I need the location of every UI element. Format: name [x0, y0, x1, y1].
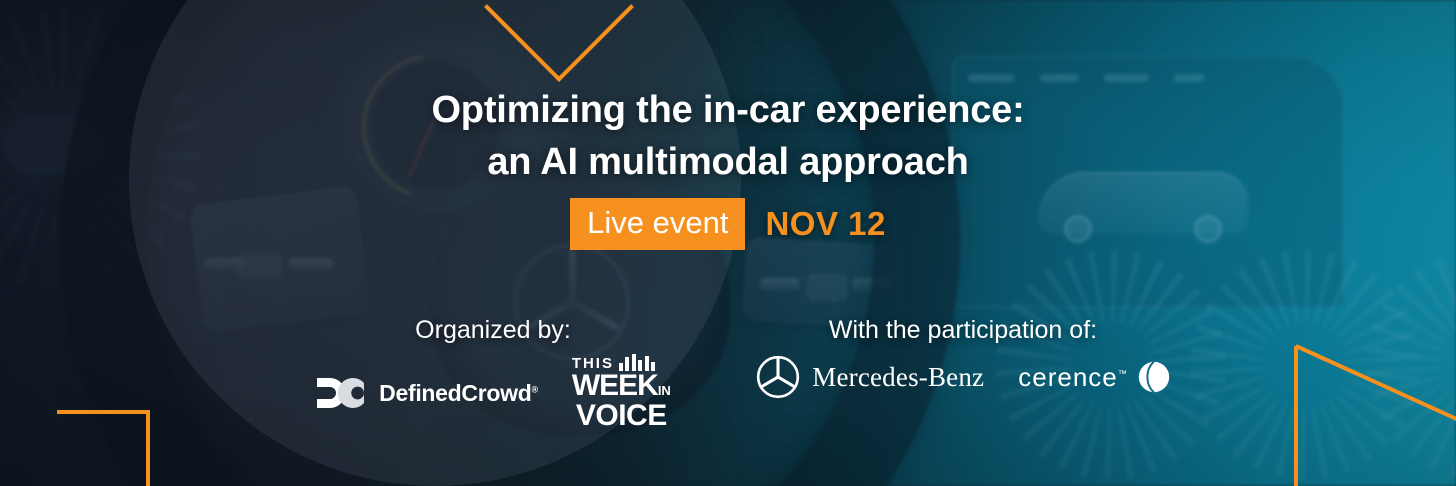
twiv-week-text: WEEK [572, 371, 658, 401]
participant-logos: Mercedes-Benz cerence™ [756, 355, 1170, 399]
organizer-logos: DefinedCrowd® THIS [315, 355, 671, 431]
definedcrowd-logo: DefinedCrowd® [315, 373, 538, 413]
definedcrowd-monogram-icon [315, 373, 367, 413]
definedcrowd-wordmark: DefinedCrowd® [379, 380, 538, 407]
organized-by-label: Organized by: [415, 315, 571, 345]
mercedes-benz-wordmark: Mercedes-Benz [812, 362, 984, 393]
twiv-voice-text: VOICE [576, 399, 667, 432]
cerence-logo: cerence™ [1018, 361, 1170, 393]
title-line-1: Optimizing the in-car experience: [431, 89, 1024, 131]
banner-content: Optimizing the in-car experience: an AI … [0, 0, 1456, 486]
twiv-in-text: IN [658, 384, 671, 397]
event-banner: Optimizing the in-car experience: an AI … [0, 0, 1456, 486]
status-badge: Live event [570, 198, 745, 250]
organized-by-column: Organized by: DefinedCrowd® THIS [258, 315, 728, 431]
page-title: Optimizing the in-car experience: an AI … [0, 84, 1456, 188]
participation-column: With the participation of: Mercedes-Benz [728, 315, 1198, 399]
twiv-row-3: VOICE [572, 401, 671, 431]
event-date: NOV 12 [765, 205, 885, 243]
cerence-wordmark: cerence™ [1018, 362, 1128, 393]
title-line-2: an AI multimodal approach [0, 136, 1456, 188]
cerence-symbol-icon [1138, 361, 1170, 393]
credits-row: Organized by: DefinedCrowd® THIS [0, 315, 1456, 431]
participation-label: With the participation of: [829, 315, 1097, 345]
this-week-in-voice-logo: THIS WEEK IN [572, 355, 671, 431]
mercedes-star-icon [756, 355, 800, 399]
registered-mark-icon: ® [531, 384, 537, 394]
twiv-row-2: WEEK IN [572, 371, 671, 401]
trademark-icon: ™ [1118, 368, 1128, 378]
event-meta-row: Live event NOV 12 [0, 198, 1456, 250]
mercedes-benz-logo: Mercedes-Benz [756, 355, 984, 399]
